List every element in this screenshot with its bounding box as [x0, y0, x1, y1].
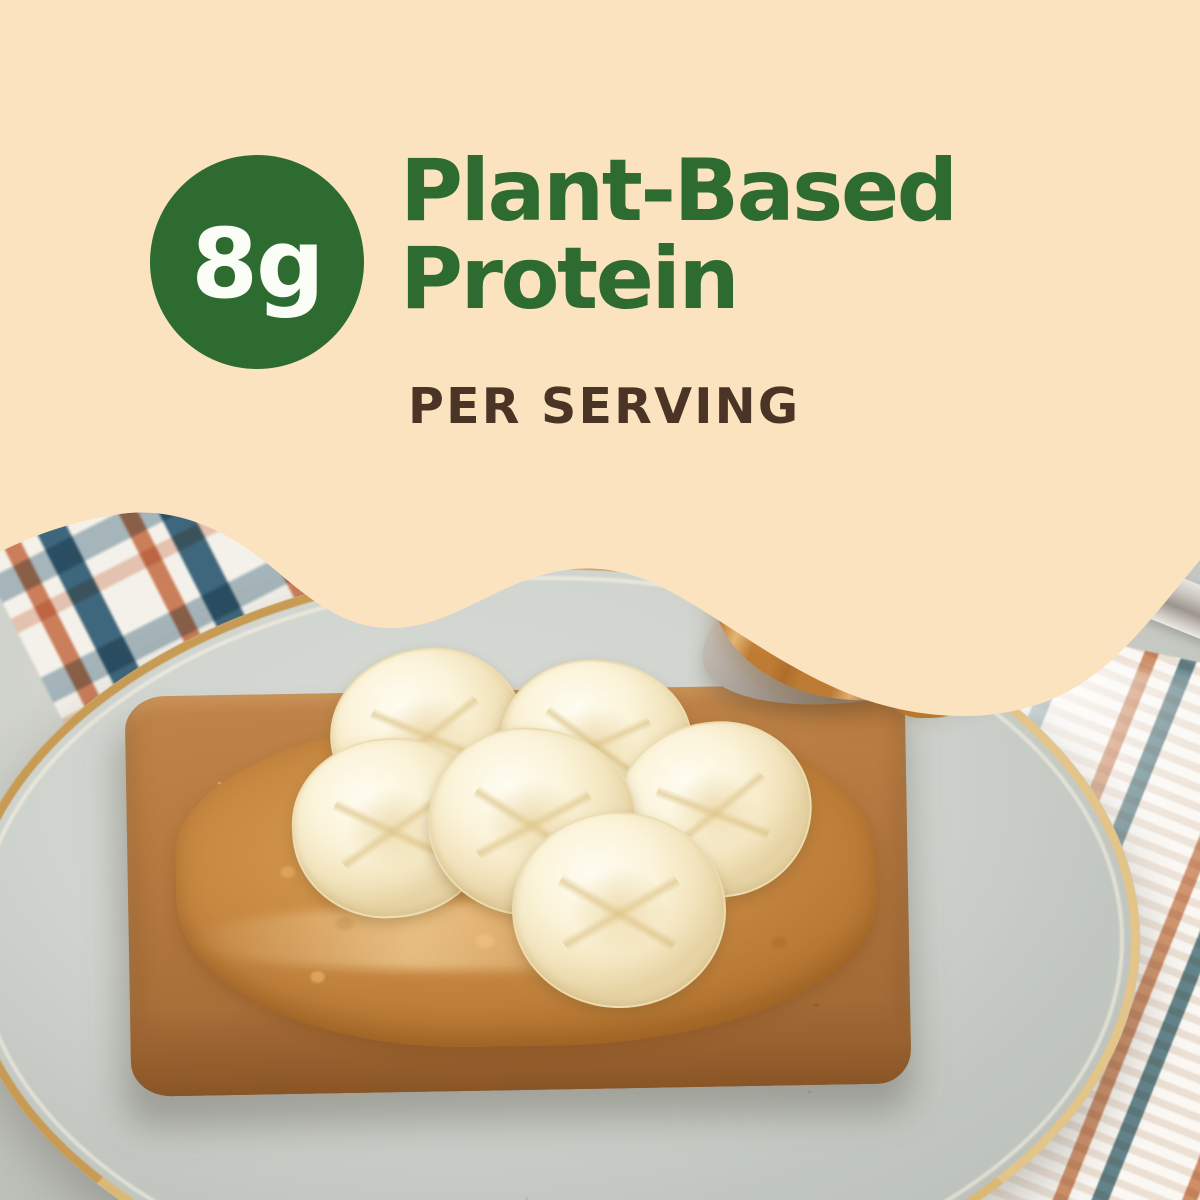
subheadline: PER SERVING: [408, 378, 800, 435]
peanut-butter-peak: [790, 452, 960, 572]
headline: Plant-Based Protein: [400, 148, 1160, 323]
headline-line-2: Protein: [400, 236, 1160, 324]
headline-line-1: Plant-Based: [400, 141, 956, 241]
protein-amount-badge: 8g: [150, 155, 364, 369]
protein-amount-value: 8g: [191, 216, 323, 312]
header-text-block: 8g Plant-Based Protein PER SERVING: [0, 0, 1200, 470]
marketing-hero-card: 8g Plant-Based Protein PER SERVING: [0, 0, 1200, 1200]
